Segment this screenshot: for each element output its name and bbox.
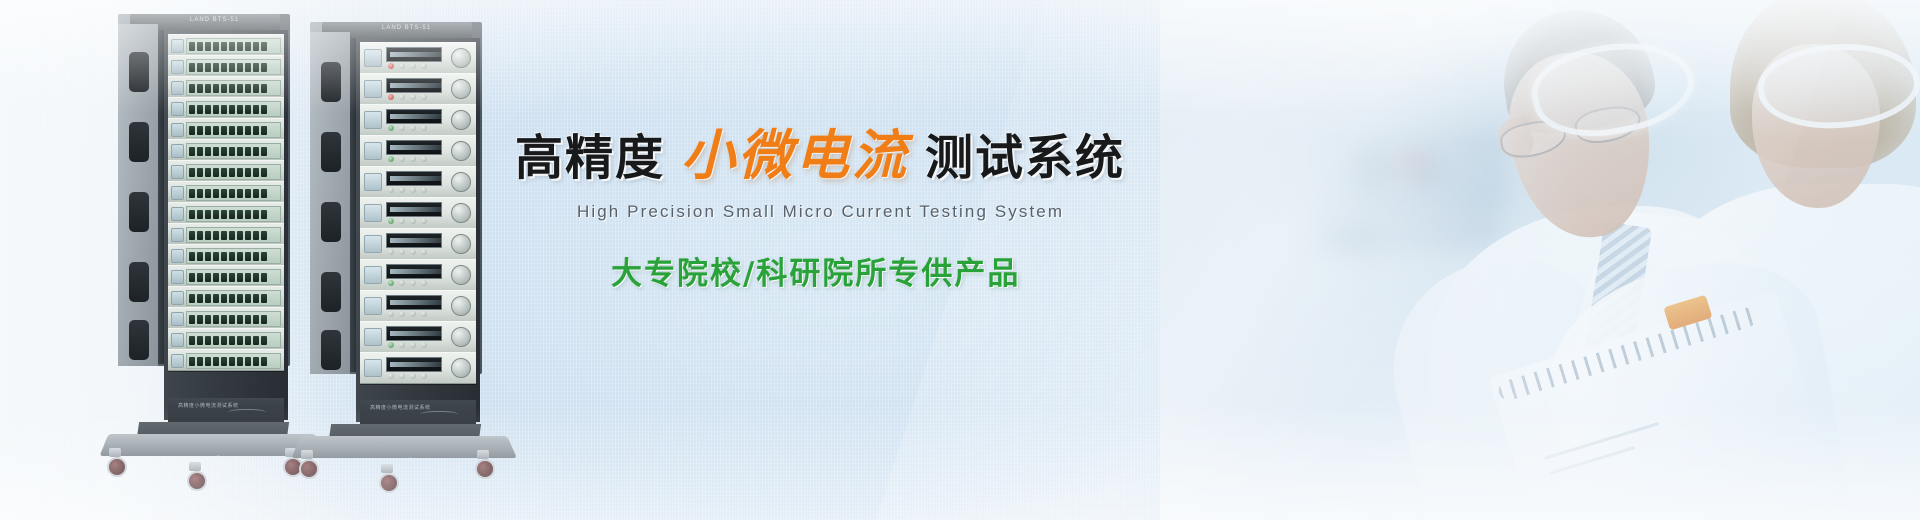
banner-vignette — [0, 0, 1920, 520]
product-banner: LAND BTS-51 — [0, 0, 1920, 520]
